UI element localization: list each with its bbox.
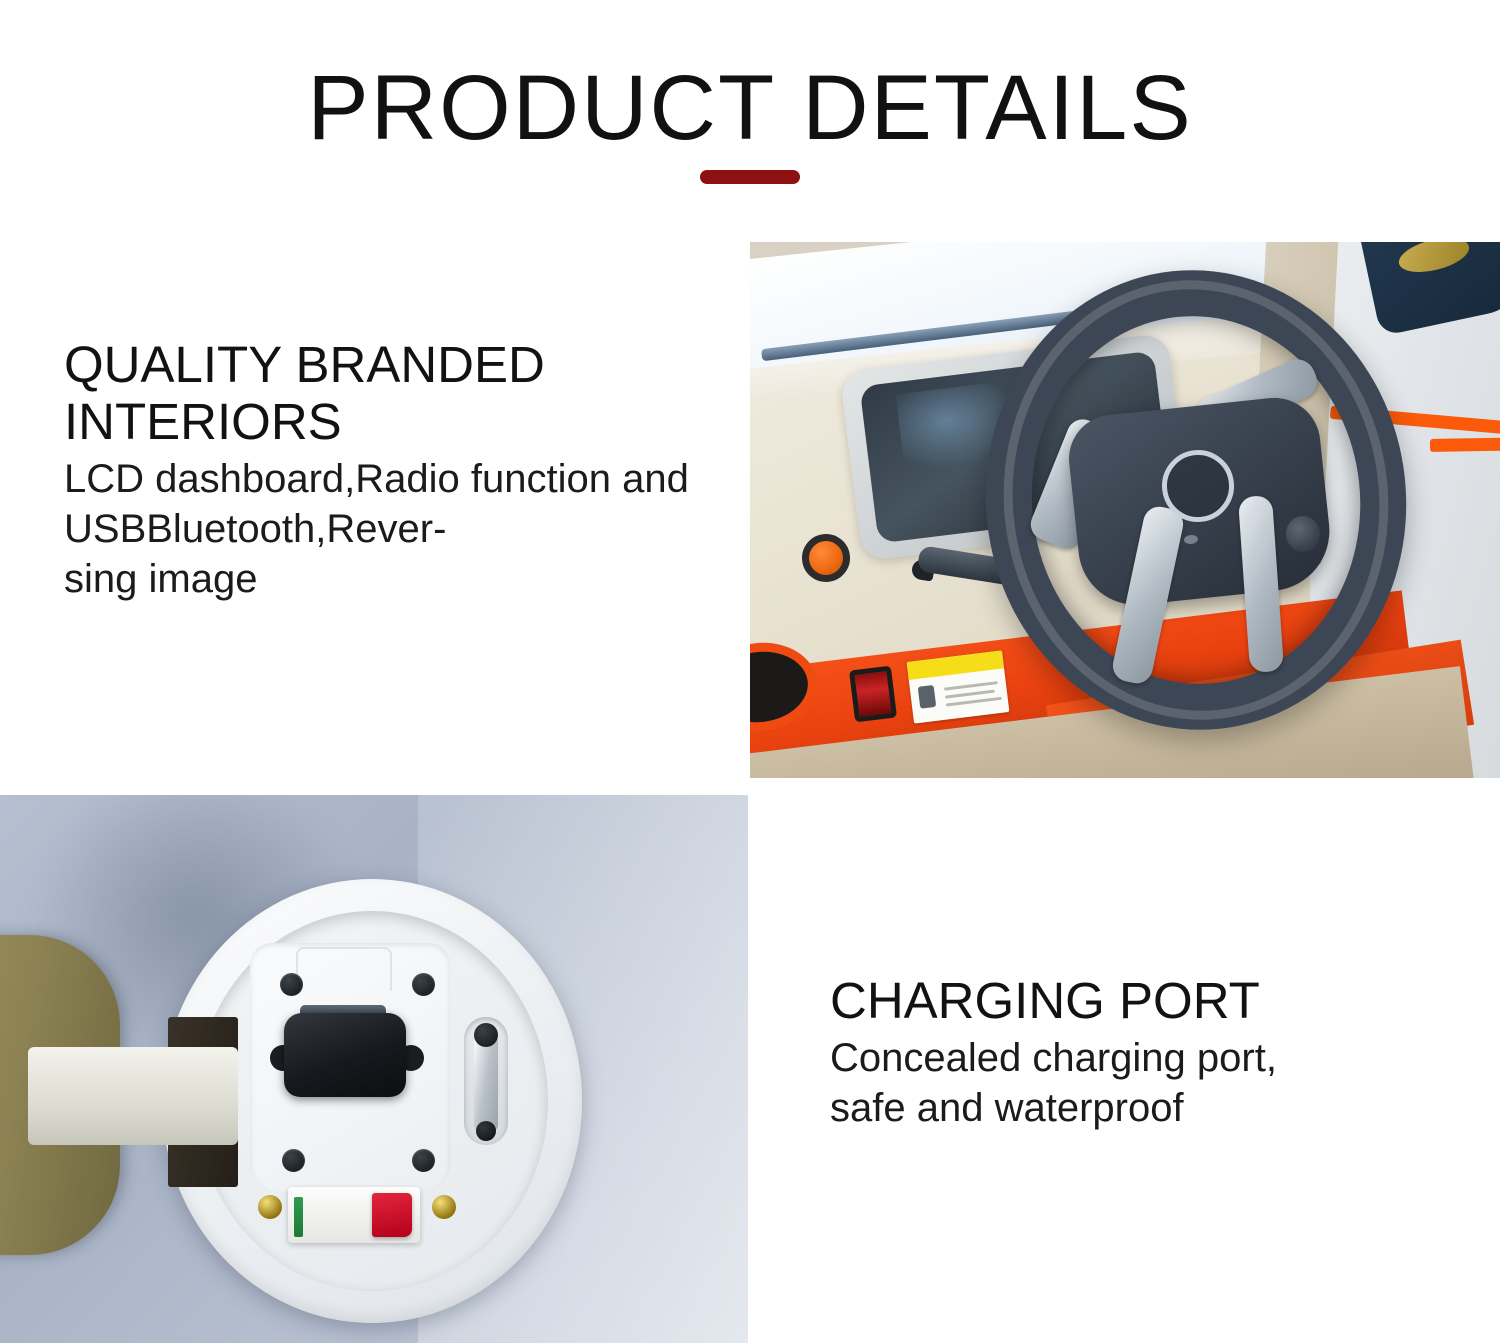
circuit-breaker-toggle (372, 1193, 412, 1237)
feature-heading-charging-port: CHARGING PORT (830, 972, 1470, 1029)
feature-body-charging-port: Concealed charging port, safe and waterp… (830, 1033, 1470, 1133)
brass-terminal-right (432, 1195, 456, 1219)
red-rocker-switch (849, 666, 897, 723)
chrome-latch-bar (474, 1035, 498, 1131)
page-title: PRODUCT DETAILS (0, 62, 1500, 154)
product-details-page: PRODUCT DETAILS (0, 0, 1500, 1343)
page-header: PRODUCT DETAILS (0, 0, 1500, 242)
steering-wheel (986, 270, 1446, 740)
circuit-breaker-brand-strip (294, 1197, 303, 1237)
mounting-screw (280, 973, 303, 996)
feature-body-interiors: LCD dashboard,Radio function and USBBlue… (64, 454, 694, 604)
latch-knob-top (474, 1023, 498, 1047)
feature-block-interiors: QUALITY BRANDED INTERIORS LCD dashboard,… (64, 336, 694, 604)
title-underline-accent (700, 170, 800, 184)
brass-terminal-left (258, 1195, 282, 1219)
mounting-screw (412, 973, 435, 996)
interior-photo (750, 242, 1500, 778)
latch-knob-bottom (476, 1121, 496, 1141)
mounting-screw (412, 1149, 435, 1172)
feature-heading-interiors: QUALITY BRANDED INTERIORS (64, 336, 694, 450)
charging-port-photo (0, 795, 748, 1343)
warning-label-icon (918, 685, 937, 709)
port-plate-tab (296, 947, 392, 991)
charging-socket (284, 1013, 406, 1097)
feature-block-charging-port: CHARGING PORT Concealed charging port, s… (830, 972, 1470, 1133)
mounting-screw (282, 1149, 305, 1172)
flap-hinge-strap (28, 1047, 238, 1145)
